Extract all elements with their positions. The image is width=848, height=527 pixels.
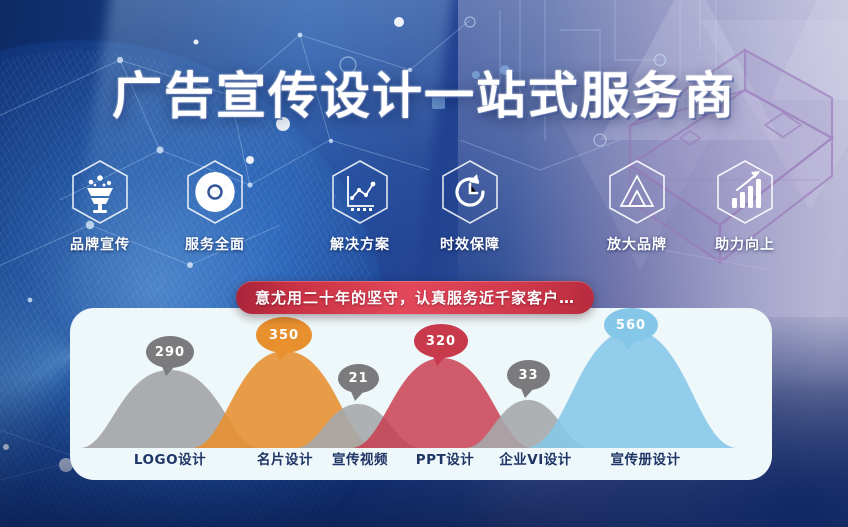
category-axis: LOGO设计 名片设计 宣传视频 PPT设计 企业VI设计 宣传册设计 (70, 448, 772, 476)
triangle-amplify-icon (606, 158, 668, 226)
clock-rewind-icon (439, 158, 501, 226)
feature-item-solutions[interactable]: 解决方案 (312, 158, 408, 254)
value-bubble: 350 (256, 317, 312, 353)
slogan-banner[interactable]: 意尤用二十年的坚守，认真服务近千家客户… (236, 281, 594, 314)
slogan-text: 意尤用二十年的坚守，认真服务近千家客户… (255, 287, 575, 308)
feature-item-full-service[interactable]: 服务全面 (167, 158, 263, 254)
value-bubble: 560 (604, 308, 658, 342)
bar-growth-arrow-icon (714, 158, 776, 226)
feature-item-amplify-brand[interactable]: 放大品牌 (589, 158, 685, 254)
feature-item-boost-upward[interactable]: 助力向上 (697, 158, 793, 254)
feature-label: 助力向上 (697, 234, 793, 254)
statistics-panel: 290 350 21 320 33 560 LOGO设计 名片设计 宣传视频 P… (70, 308, 772, 480)
megaphone-brand-icon (69, 158, 131, 226)
page-title: 广告宣传设计一站式服务商 (0, 56, 848, 128)
feature-item-timeliness[interactable]: 时效保障 (422, 158, 518, 254)
feature-item-brand-promotion[interactable]: 品牌宣传 (52, 158, 148, 254)
value-bubble: 33 (507, 360, 550, 390)
axis-label: LOGO设计 (110, 448, 230, 468)
promo-banner-stage: 广告宣传设计一站式服务商 品牌宣传 (0, 0, 848, 527)
axis-label: 宣传册设计 (578, 448, 713, 468)
feature-label: 时效保障 (422, 234, 518, 254)
value-bubble: 290 (146, 336, 194, 368)
value-bubble: 320 (414, 324, 468, 358)
feature-label: 服务全面 (167, 234, 263, 254)
value-bubble: 21 (338, 364, 379, 393)
feature-label: 放大品牌 (589, 234, 685, 254)
feature-label: 解决方案 (312, 234, 408, 254)
feature-label: 品牌宣传 (52, 234, 148, 254)
feature-icon-row: 品牌宣传 服务全面 (0, 158, 848, 248)
chart-network-icon (329, 158, 391, 226)
camera-aperture-icon (184, 158, 246, 226)
